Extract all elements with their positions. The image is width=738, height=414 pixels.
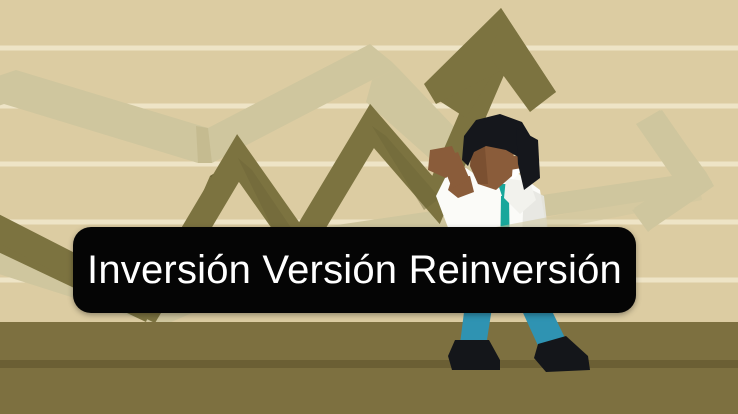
banner-title-text: Inversión Versión Reinversión [77, 250, 632, 290]
ground [0, 322, 738, 414]
illustration-banner: Inversión Versión Reinversión [0, 0, 738, 414]
scene-illustration [0, 0, 738, 414]
title-banner: Inversión Versión Reinversión [73, 227, 636, 313]
